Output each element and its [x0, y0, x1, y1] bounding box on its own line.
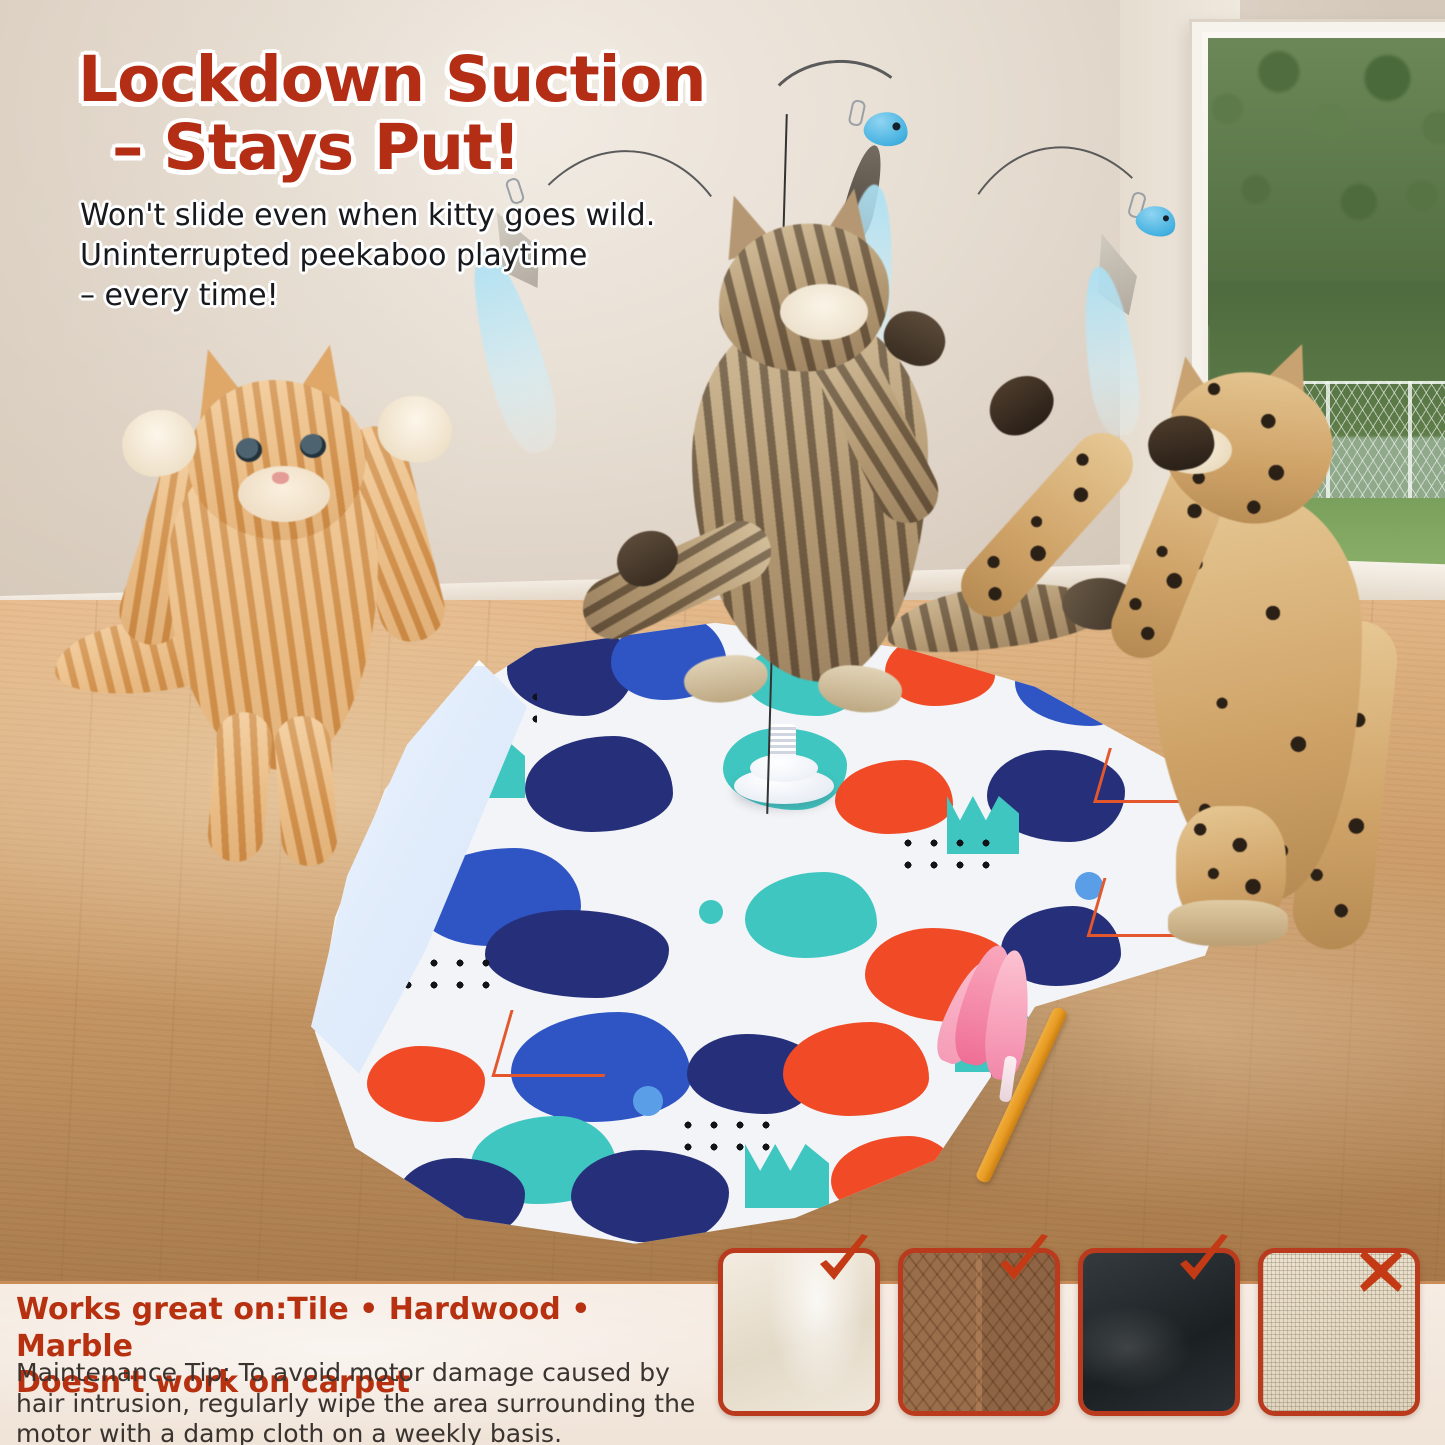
bird-eye-icon	[892, 122, 901, 131]
cat-hind-foot	[1168, 900, 1288, 946]
check-icon	[814, 1234, 874, 1294]
pattern-triangle-outline	[491, 1010, 623, 1077]
subheadline: Won't slide even when kitty goes wild. U…	[80, 196, 720, 317]
pink-feather-wand-toy	[940, 940, 1190, 1160]
works-great-on-line: Works great on:Tile • Hardwood • Marble	[16, 1292, 716, 1365]
pattern-dot	[699, 900, 723, 924]
pattern-dot	[633, 1086, 663, 1116]
check-icon	[1174, 1234, 1234, 1294]
check-icon	[994, 1234, 1054, 1294]
pattern-dots	[675, 1114, 783, 1162]
orange-tabby-kitten	[60, 320, 490, 860]
subheadline-line-3: – every time!	[80, 276, 720, 316]
maintenance-tip: Maintenance Tip: To avoid motor damage c…	[16, 1358, 696, 1445]
cross-icon	[1354, 1244, 1414, 1304]
pattern-shape	[571, 1150, 729, 1244]
pattern-shape	[745, 872, 877, 958]
subheadline-line-2: Uninterrupted peekaboo playtime	[80, 236, 720, 276]
pattern-shape	[367, 1046, 485, 1122]
cat-hind-leg	[273, 714, 339, 868]
headline-line-1: Lockdown Suction	[78, 43, 705, 116]
cat-hind-foot	[681, 650, 771, 707]
cat-paw	[979, 364, 1064, 446]
cat-eye	[300, 434, 326, 458]
cat-eye	[236, 438, 262, 462]
cat-chin	[780, 284, 868, 340]
subheadline-line-1: Won't slide even when kitty goes wild.	[80, 196, 720, 236]
headline-line-2: – Stays Put!	[112, 114, 818, 182]
bengal-cat	[980, 320, 1430, 940]
cat-hind-leg	[206, 710, 275, 864]
pattern-shape	[485, 910, 669, 998]
cat-nose	[272, 472, 289, 484]
headline: Lockdown Suction – Stays Put!	[78, 46, 818, 182]
pattern-shape	[783, 1022, 929, 1116]
surface-swatch-row	[718, 1248, 1438, 1413]
pattern-shape	[525, 736, 673, 832]
cat-hind-foot	[816, 661, 905, 717]
product-marketing-image: Lockdown Suction – Stays Put! Won't slid…	[0, 0, 1445, 1445]
bird-eye-icon	[1162, 215, 1169, 222]
